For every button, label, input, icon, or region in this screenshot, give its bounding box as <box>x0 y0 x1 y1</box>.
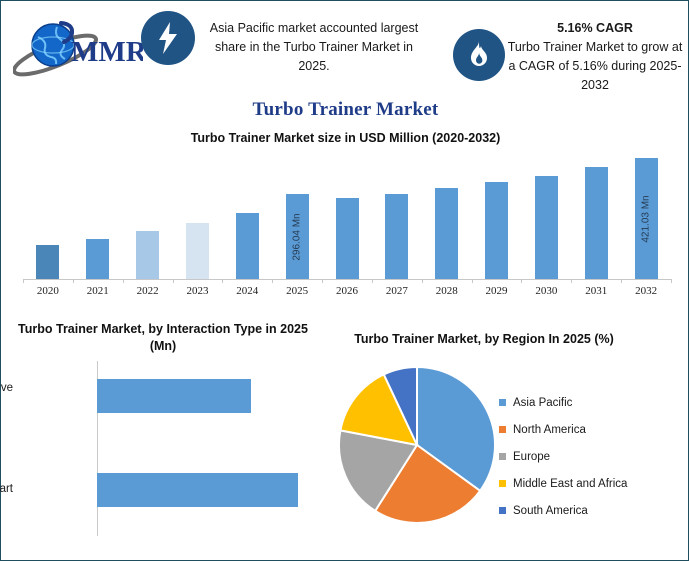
legend-item-asia-pacific: Asia Pacific <box>499 389 679 416</box>
x-axis-label-2027: 2027 <box>372 285 422 297</box>
bar-value-label-2032: 421.03 Mn <box>641 195 652 242</box>
x-tick <box>422 279 423 283</box>
logo-text: MMR <box>71 36 143 68</box>
pie-chart-title: Turbo Trainer Market, by Region In 2025 … <box>349 331 619 348</box>
bar-column-2024 <box>236 147 259 279</box>
cagr-block: 5.16% CAGR Turbo Trainer Market to grow … <box>506 19 684 95</box>
legend-item-middle-east-and-africa: Middle East and Africa <box>499 470 679 497</box>
x-tick <box>123 279 124 283</box>
bar-chart-title: Turbo Trainer Market size in USD Million… <box>1 131 689 145</box>
bar-2022 <box>136 231 159 279</box>
x-tick <box>621 279 622 283</box>
x-tick <box>372 279 373 283</box>
lightning-badge <box>141 11 195 65</box>
x-tick <box>73 279 74 283</box>
bar-value-label-2025: 296.04 Mn <box>292 213 303 260</box>
bar-x-axis <box>23 279 671 280</box>
bar-2020 <box>36 245 59 279</box>
bar-2021 <box>86 239 109 279</box>
hbar-row-non-interactive <box>97 379 251 413</box>
cagr-description: Turbo Trainer Market to grow at a CAGR o… <box>506 38 684 95</box>
bar-2030 <box>535 176 558 279</box>
hbar-label-smart: Smart <box>0 482 13 497</box>
bar-column-2023 <box>186 147 209 279</box>
x-axis-label-2025: 2025 <box>272 285 322 297</box>
flame-icon <box>468 40 490 70</box>
mmr-logo: MMR <box>13 15 143 77</box>
lightning-bolt-icon <box>155 21 181 55</box>
legend-item-north-america: North America <box>499 416 679 443</box>
x-tick <box>521 279 522 283</box>
x-axis-label-2021: 2021 <box>73 285 123 297</box>
x-axis-label-2030: 2030 <box>521 285 571 297</box>
market-size-bar-chart: 296.04 Mn421.03 Mn 202020212022202320242… <box>23 147 671 305</box>
x-tick <box>222 279 223 283</box>
hbar-label-non-interactive: Non-Interactive <box>0 381 13 396</box>
bar-column-2021 <box>86 147 109 279</box>
bar-column-2020 <box>36 147 59 279</box>
bar-2025: 296.04 Mn <box>286 194 309 279</box>
x-axis-label-2031: 2031 <box>571 285 621 297</box>
region-pie-chart <box>337 365 497 525</box>
legend-label: Europe <box>513 451 550 463</box>
x-axis-label-2028: 2028 <box>422 285 472 297</box>
bar-2024 <box>236 213 259 279</box>
bar-2026 <box>336 198 359 279</box>
x-axis-label-2023: 2023 <box>173 285 223 297</box>
interaction-bar-chart: Non-InteractiveSmart <box>19 361 319 536</box>
bar-column-2027 <box>385 147 408 279</box>
bar-2029 <box>485 182 508 279</box>
x-axis-label-2022: 2022 <box>123 285 173 297</box>
x-tick <box>272 279 273 283</box>
bar-column-2032: 421.03 Mn <box>635 147 658 279</box>
page-title: Turbo Trainer Market <box>1 99 689 121</box>
x-tick <box>23 279 24 283</box>
bar-column-2025: 296.04 Mn <box>286 147 309 279</box>
x-tick <box>322 279 323 283</box>
bar-2023 <box>186 223 209 279</box>
legend-swatch-icon <box>499 426 506 433</box>
legend-label: Asia Pacific <box>513 397 572 409</box>
legend-label: South America <box>513 505 588 517</box>
legend-swatch-icon <box>499 453 506 460</box>
legend-label: North America <box>513 424 586 436</box>
x-tick <box>173 279 174 283</box>
hbar-smart <box>97 473 298 507</box>
bar-plot-area: 296.04 Mn421.03 Mn <box>23 147 671 279</box>
x-tick <box>671 279 672 283</box>
x-axis-label-2029: 2029 <box>472 285 522 297</box>
x-axis-label-2032: 2032 <box>621 285 671 297</box>
infographic-frame: MMR Asia Pacific market accounted larges… <box>0 0 689 561</box>
legend-item-europe: Europe <box>499 443 679 470</box>
hbar-non-interactive <box>97 379 251 413</box>
bar-column-2031 <box>585 147 608 279</box>
legend-swatch-icon <box>499 480 506 487</box>
bar-column-2029 <box>485 147 508 279</box>
legend-swatch-icon <box>499 399 506 406</box>
bar-2027 <box>385 194 408 279</box>
x-axis-label-2026: 2026 <box>322 285 372 297</box>
bar-2031 <box>585 167 608 279</box>
legend-swatch-icon <box>499 507 506 514</box>
bar-2032: 421.03 Mn <box>635 158 658 279</box>
interaction-chart-title: Turbo Trainer Market, by Interaction Typ… <box>15 321 311 355</box>
bar-2028 <box>435 188 458 279</box>
flame-badge <box>453 29 505 81</box>
globe-orbit-icon: MMR <box>13 15 143 77</box>
bar-column-2030 <box>535 147 558 279</box>
bar-column-2022 <box>136 147 159 279</box>
x-axis-label-2024: 2024 <box>222 285 272 297</box>
cagr-value: 5.16% CAGR <box>506 19 684 38</box>
pie-legend: Asia PacificNorth AmericaEuropeMiddle Ea… <box>499 389 679 524</box>
x-tick <box>571 279 572 283</box>
bar-column-2028 <box>435 147 458 279</box>
x-axis-label-2020: 2020 <box>23 285 73 297</box>
bar-column-2026 <box>336 147 359 279</box>
legend-item-south-america: South America <box>499 497 679 524</box>
x-tick <box>472 279 473 283</box>
hbar-row-smart <box>97 473 298 507</box>
legend-label: Middle East and Africa <box>513 478 627 490</box>
highlight-text: Asia Pacific market accounted largest sh… <box>207 19 421 76</box>
